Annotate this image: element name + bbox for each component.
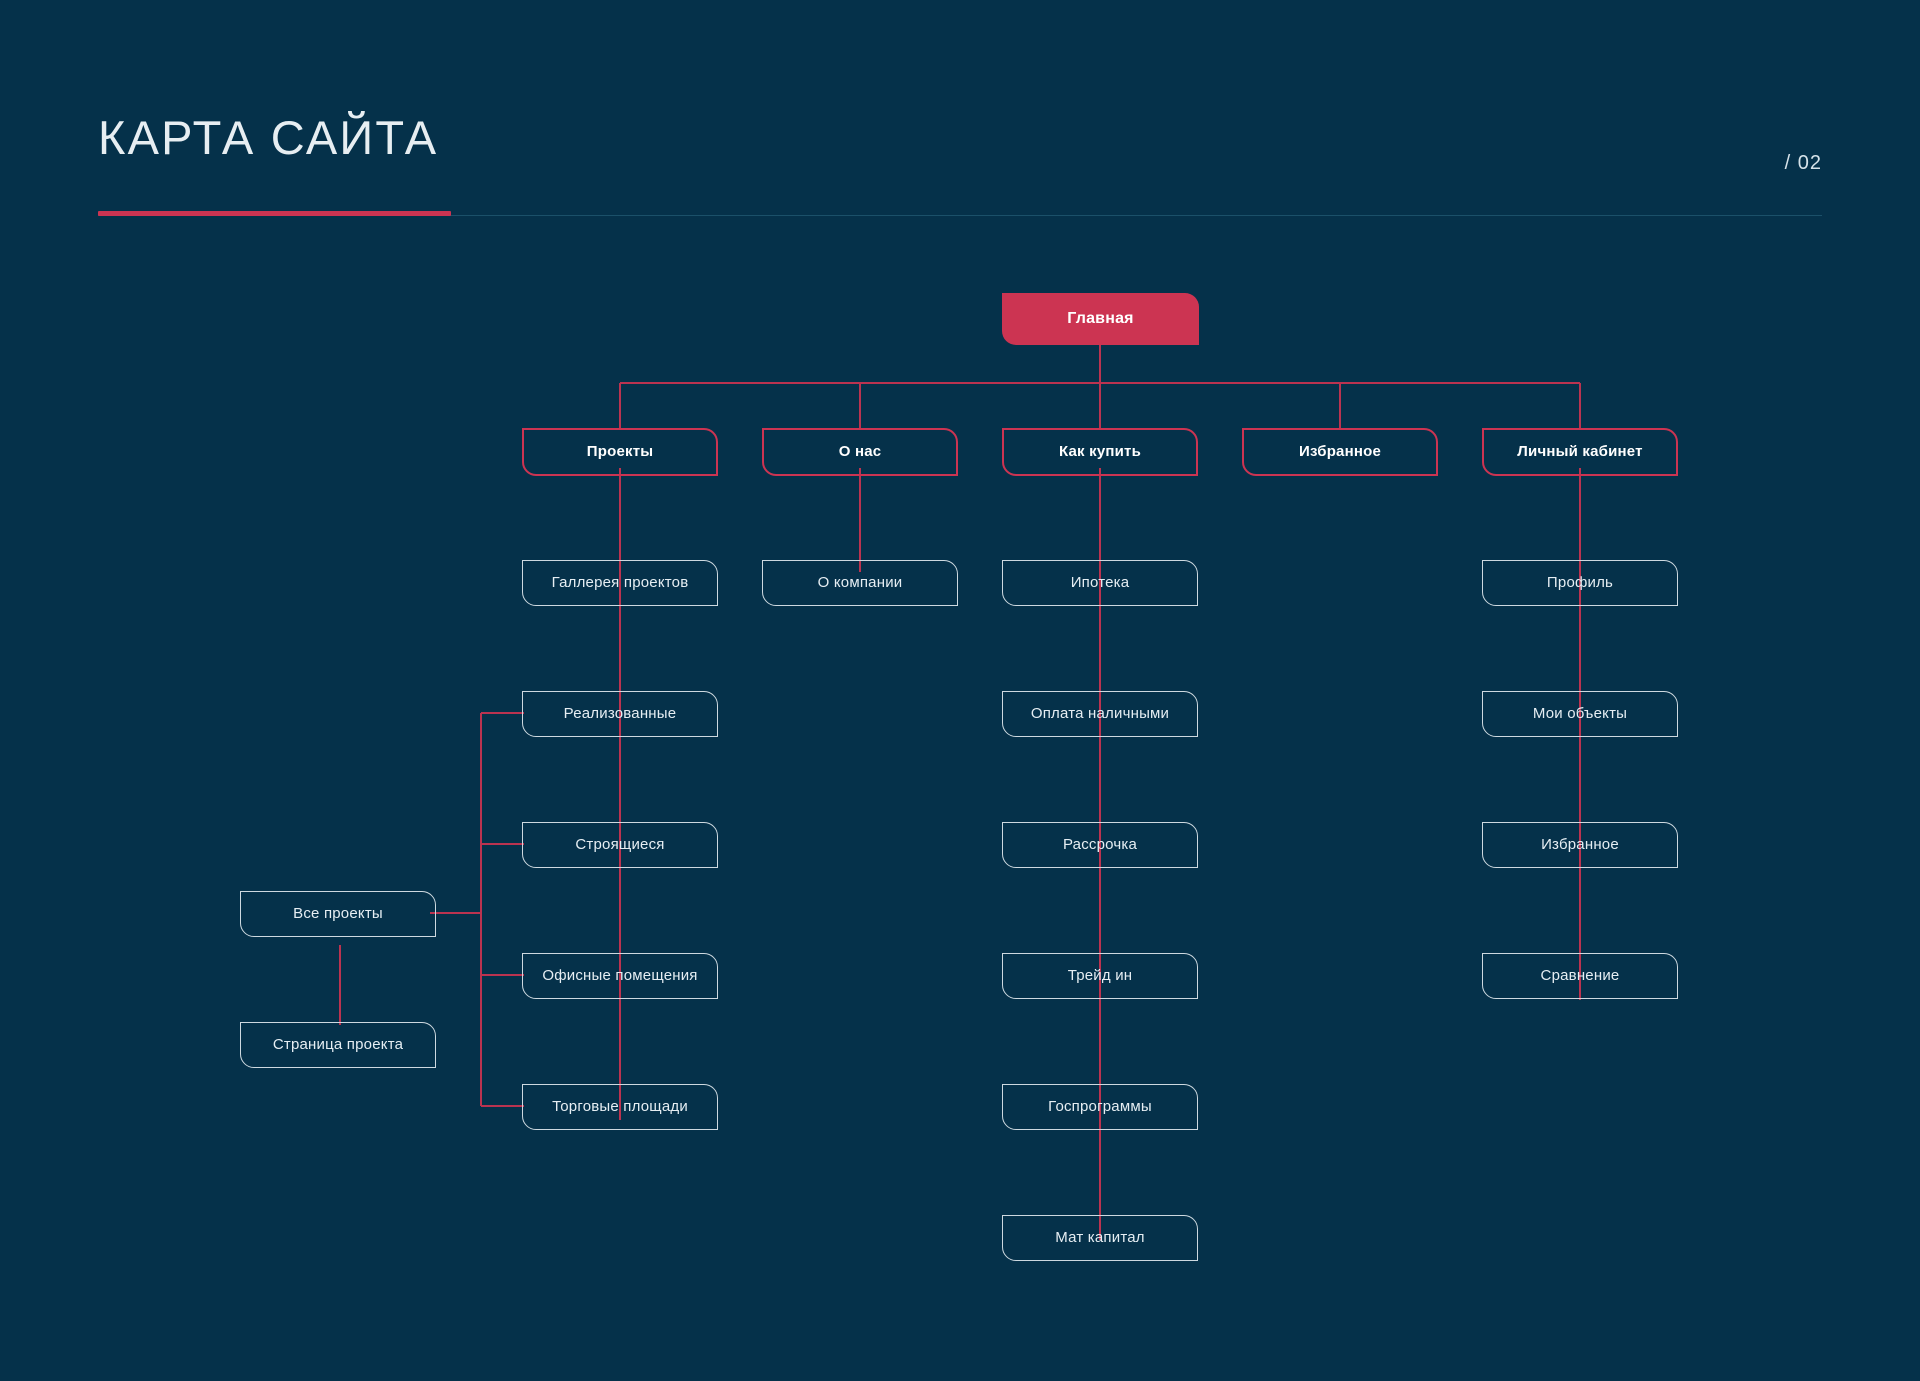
node-mortgage[interactable]: Ипотека [1002, 560, 1198, 606]
node-label: Галлерея проектов [552, 574, 689, 591]
node-all-projects[interactable]: Все проекты [240, 891, 436, 937]
node-label: Как купить [1059, 443, 1141, 460]
node-about-company[interactable]: О компании [762, 560, 958, 606]
node-how-to-buy[interactable]: Как купить [1002, 428, 1198, 476]
node-projects-retail[interactable]: Торговые площади [522, 1084, 718, 1130]
node-root-home[interactable]: Главная [1002, 293, 1199, 345]
node-label: О компании [818, 574, 903, 591]
node-account-favorites[interactable]: Избранное [1482, 822, 1678, 868]
node-my-objects[interactable]: Мои объекты [1482, 691, 1678, 737]
node-projects-under-construction[interactable]: Строящиеся [522, 822, 718, 868]
node-label: Избранное [1299, 443, 1381, 460]
node-label: Проекты [587, 443, 654, 460]
node-label: Мат капитал [1055, 1229, 1144, 1246]
node-label: Офисные помещения [542, 967, 697, 984]
node-label: Оплата наличными [1031, 705, 1169, 722]
node-projects-offices[interactable]: Офисные помещения [522, 953, 718, 999]
node-label: Страница проекта [273, 1036, 403, 1053]
node-label: Личный кабинет [1517, 443, 1642, 460]
node-comparison[interactable]: Сравнение [1482, 953, 1678, 999]
node-label: Мои объекты [1533, 705, 1627, 722]
node-label: Госпрограммы [1048, 1098, 1152, 1115]
node-label: Избранное [1541, 836, 1619, 853]
node-about[interactable]: О нас [762, 428, 958, 476]
node-account[interactable]: Личный кабинет [1482, 428, 1678, 476]
node-projects-gallery[interactable]: Галлерея проектов [522, 560, 718, 606]
node-label: Трейд ин [1068, 967, 1133, 984]
node-label: Строящиеся [575, 836, 664, 853]
node-government-programs[interactable]: Госпрограммы [1002, 1084, 1198, 1130]
node-label: О нас [839, 443, 882, 460]
node-projects[interactable]: Проекты [522, 428, 718, 476]
node-cash-payment[interactable]: Оплата наличными [1002, 691, 1198, 737]
node-installment[interactable]: Рассрочка [1002, 822, 1198, 868]
node-label: Ипотека [1071, 574, 1130, 591]
node-label: Все проекты [293, 905, 383, 922]
node-label: Рассрочка [1063, 836, 1137, 853]
node-label: Сравнение [1541, 967, 1620, 984]
node-label: Торговые площади [552, 1098, 688, 1115]
node-profile[interactable]: Профиль [1482, 560, 1678, 606]
node-label: Профиль [1547, 574, 1613, 591]
node-projects-completed[interactable]: Реализованные [522, 691, 718, 737]
node-favorites[interactable]: Избранное [1242, 428, 1438, 476]
node-label: Главная [1067, 310, 1133, 328]
slide-canvas: КАРТА САЙТА / 02 [0, 0, 1920, 1381]
node-maternity-capital[interactable]: Мат капитал [1002, 1215, 1198, 1261]
node-project-page[interactable]: Страница проекта [240, 1022, 436, 1068]
node-trade-in[interactable]: Трейд ин [1002, 953, 1198, 999]
node-label: Реализованные [564, 705, 677, 722]
sitemap-diagram: Главная Проекты О нас Как купить Избранн… [0, 0, 1920, 1381]
